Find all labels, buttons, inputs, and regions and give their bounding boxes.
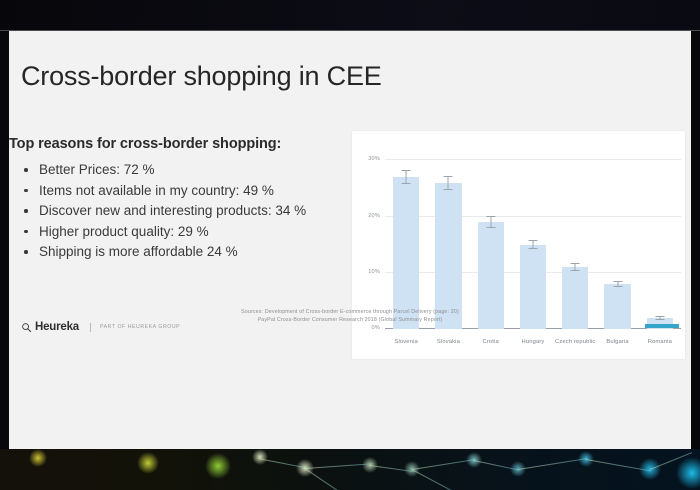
list-item: Items not available in my country: 49 % [23, 181, 349, 201]
chart-plot-area: 0%10%20%30% [385, 149, 681, 329]
chart-bar [393, 177, 419, 329]
chart-bar-slot [470, 149, 512, 329]
chart-x-tick-label: Bulgaria [596, 339, 638, 345]
network-line [370, 465, 415, 472]
list-item: Discover new and interesting products: 3… [23, 201, 349, 221]
network-line [412, 459, 475, 470]
network-line [258, 458, 309, 469]
brand-tagline: PART OF HEUREKA GROUP [100, 324, 180, 330]
network-line [304, 468, 349, 490]
magnifier-icon [21, 322, 32, 333]
chart-x-tick-label: Slovenia [385, 339, 427, 345]
list-item: Shipping is more affordable 24 % [23, 242, 349, 262]
network-line [650, 452, 692, 470]
reasons-column: Top reasons for cross-border shopping: B… [9, 136, 349, 263]
network-line [305, 463, 373, 469]
footer-divider [90, 323, 91, 332]
accent-bar [645, 324, 679, 328]
chart-y-tick-label: 20% [368, 213, 380, 219]
chart-error-bar [490, 216, 491, 228]
chart-bar-slot [427, 149, 469, 329]
network-line [474, 460, 519, 471]
chart-x-tick-label: Czech republic [554, 339, 596, 345]
chart-bar-slot [639, 149, 681, 329]
network-line [586, 459, 651, 471]
sources-line-1: Sources: Development of Cross-border E-c… [9, 308, 691, 316]
reasons-list: Better Prices: 72 %Items not available i… [9, 160, 349, 262]
screenshot-frame: Cross-border shopping in CEE Top reasons… [0, 0, 700, 490]
bottom-network-graphic [0, 449, 700, 490]
network-line [518, 458, 587, 470]
chart-error-bar [406, 170, 407, 184]
list-item: Better Prices: 72 % [23, 160, 349, 180]
chart-y-tick-label: 0% [372, 325, 381, 331]
chart-x-tick-label: Slovakia [427, 339, 469, 345]
footer-brand: Heureka PART OF HEUREKA GROUP [21, 320, 180, 334]
network-line [412, 469, 457, 490]
chart-bar-slot [385, 149, 427, 329]
chart-error-bar [575, 263, 576, 271]
chart-y-tick-label: 30% [368, 156, 380, 162]
page-title: Cross-border shopping in CEE [21, 61, 382, 92]
chart-x-tick-label: Hungary [512, 339, 554, 345]
chart-error-bar [617, 281, 618, 288]
slide-canvas: Cross-border shopping in CEE Top reasons… [9, 31, 691, 449]
chart-bar-slot [512, 149, 554, 329]
chart-bar-slot [596, 149, 638, 329]
chart-error-bar [448, 176, 449, 190]
list-item: Higher product quality: 29 % [23, 222, 349, 242]
chart-x-tick-label: Romania [639, 339, 681, 345]
chart-bar-slot [554, 149, 596, 329]
presentation-slide: Cross-border shopping in CEE Top reasons… [9, 31, 691, 449]
chart-bars [385, 149, 681, 329]
chart-x-tick-label: Crotia [470, 339, 512, 345]
top-dark-strip [0, 0, 700, 31]
brand-name: Heureka [35, 321, 79, 333]
chart-error-bar [532, 240, 533, 250]
chart-y-tick-label: 10% [368, 269, 380, 275]
chart-x-axis-labels: SloveniaSlovakiaCrotiaHungaryCzech repub… [385, 339, 681, 345]
reasons-heading: Top reasons for cross-border shopping: [9, 136, 349, 152]
